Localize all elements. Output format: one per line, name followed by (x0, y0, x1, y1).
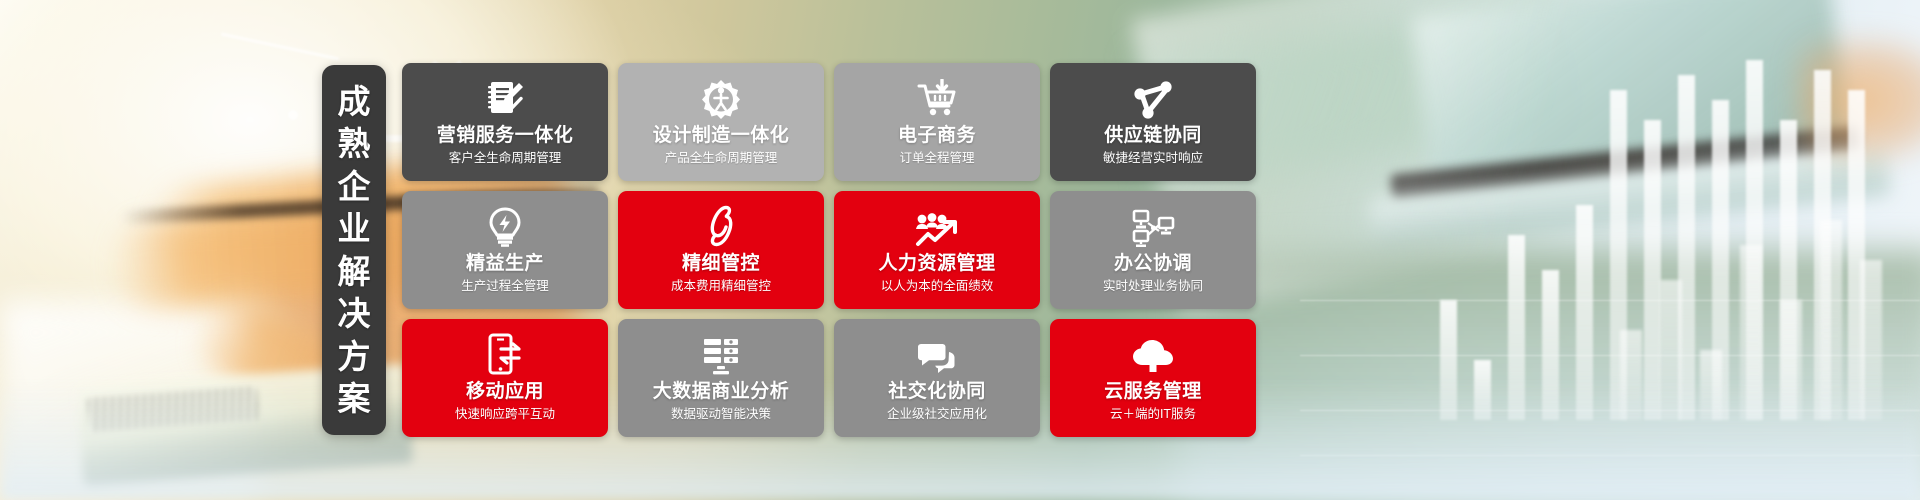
solution-card-cloud-service[interactable]: 云服务管理 云＋端的IT服务 (1050, 319, 1256, 437)
card-subtitle: 数据驱动智能决策 (671, 408, 771, 422)
vertical-title-bar: 成 熟 企 业 解 决 方 案 (322, 65, 386, 435)
solution-card-marketing-service[interactable]: 营销服务一体化 客户全生命周期管理 (402, 63, 608, 181)
solution-card-human-resources[interactable]: 人力资源管理 以人为本的全面绩效 (834, 191, 1040, 309)
solution-card-design-manufacture[interactable]: 设计制造一体化 产品全生命周期管理 (618, 63, 824, 181)
card-title: 设计制造一体化 (653, 126, 790, 147)
solution-card-big-data-analysis[interactable]: 大数据商业分析 数据驱动智能决策 (618, 319, 824, 437)
solution-card-mobile-app[interactable]: 移动应用 快速响应跨平互动 (402, 319, 608, 437)
card-subtitle: 客户全生命周期管理 (449, 152, 562, 166)
card-title: 办公协调 (1114, 254, 1192, 275)
card-subtitle: 订单全程管理 (899, 152, 974, 166)
vertical-title-char: 业 (338, 212, 371, 245)
solution-card-lean-production[interactable]: 精益生产 生产过程全管理 (402, 191, 608, 309)
card-subtitle: 实时处理业务协同 (1103, 280, 1203, 294)
vertical-title-char: 企 (338, 170, 371, 203)
solution-card-grid: 营销服务一体化 客户全生命周期管理 设计制造一体化 产品全生命周期管理 (402, 63, 1256, 437)
solution-card-ecommerce[interactable]: 电子商务 订单全程管理 (834, 63, 1040, 181)
card-subtitle: 快速响应跨平互动 (455, 408, 555, 422)
card-subtitle: 敏捷经营实时响应 (1103, 152, 1203, 166)
card-subtitle: 产品全生命周期管理 (665, 152, 778, 166)
chat-bubbles-icon (916, 333, 958, 375)
card-title: 供应链协同 (1104, 126, 1202, 147)
solution-card-cost-control[interactable]: 精细管控 成本费用精细管控 (618, 191, 824, 309)
solution-card-social-collaboration[interactable]: 社交化协同 企业级社交应用化 (834, 319, 1040, 437)
paperclip-icon (705, 205, 737, 247)
people-trend-icon (915, 205, 959, 247)
card-subtitle: 企业级社交应用化 (887, 408, 987, 422)
card-title: 电子商务 (898, 126, 976, 147)
card-subtitle: 以人为本的全面绩效 (881, 280, 994, 294)
vertical-title-char: 案 (338, 382, 371, 415)
vertical-title-char: 解 (338, 255, 371, 288)
server-data-icon (702, 333, 740, 375)
shopping-cart-download-icon (916, 77, 958, 119)
card-title: 云服务管理 (1104, 382, 1202, 403)
solution-card-office-coordination[interactable]: 办公协调 实时处理业务协同 (1050, 191, 1256, 309)
card-title: 营销服务一体化 (437, 126, 574, 147)
vertical-title-char: 成 (338, 85, 371, 118)
computers-network-icon (1131, 205, 1175, 247)
clipboard-check-icon (486, 77, 524, 119)
card-subtitle: 云＋端的IT服务 (1110, 408, 1196, 422)
gear-person-icon (701, 77, 741, 119)
card-title: 精益生产 (466, 254, 544, 275)
cloud-upload-icon (1132, 333, 1174, 375)
mobile-exchange-icon (488, 333, 522, 375)
card-title: 人力资源管理 (878, 254, 995, 275)
card-title: 精细管控 (682, 254, 760, 275)
card-title: 移动应用 (466, 382, 544, 403)
card-title: 大数据商业分析 (653, 382, 790, 403)
card-subtitle: 成本费用精细管控 (671, 280, 771, 294)
card-subtitle: 生产过程全管理 (461, 280, 549, 294)
solution-card-supply-chain[interactable]: 供应链协同 敏捷经营实时响应 (1050, 63, 1256, 181)
vertical-title-char: 熟 (338, 127, 371, 160)
card-title: 社交化协同 (888, 382, 986, 403)
lightbulb-bolt-icon (488, 205, 522, 247)
vertical-title-char: 决 (338, 297, 371, 330)
network-nodes-icon (1132, 77, 1174, 119)
vertical-title-char: 方 (338, 340, 371, 373)
